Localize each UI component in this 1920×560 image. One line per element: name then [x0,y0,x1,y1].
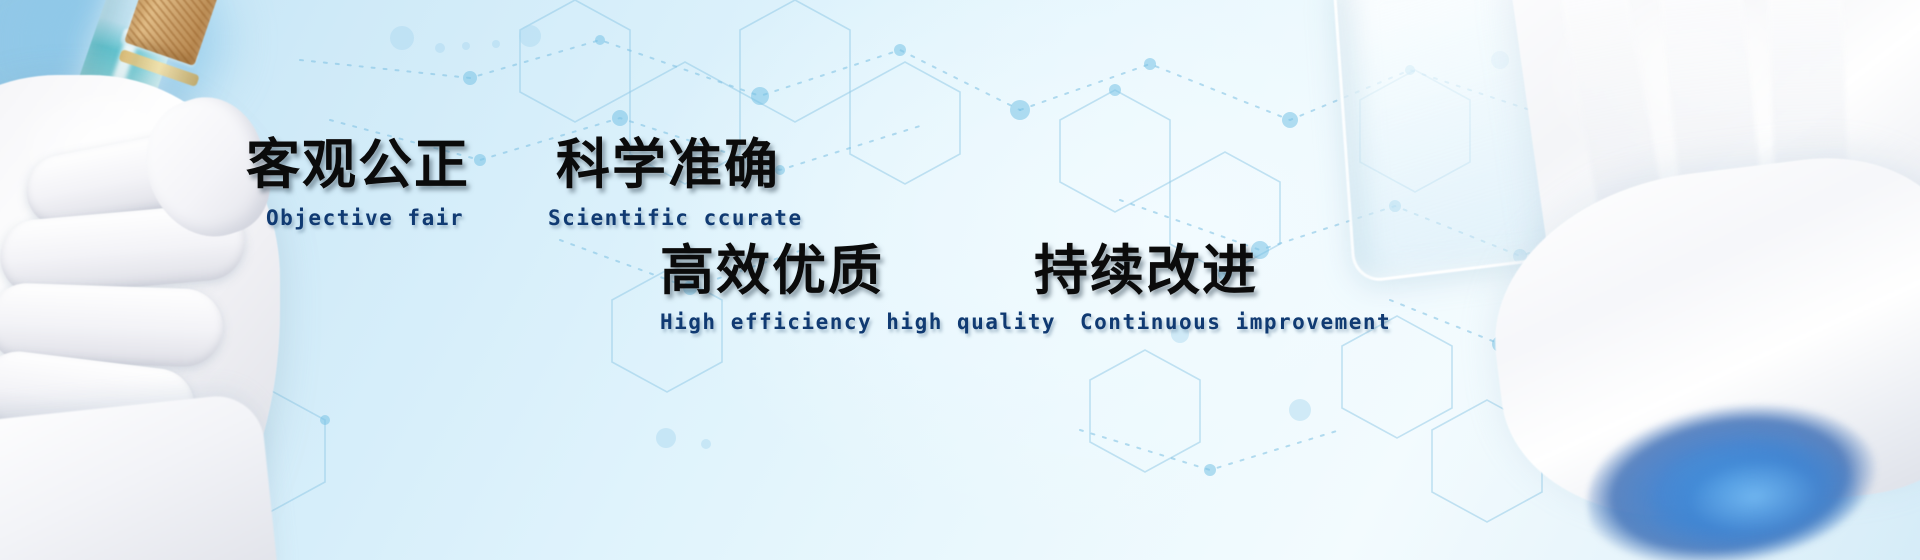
slogan-row-1-headings: 客观公正 科学准确 [246,138,803,192]
slogan-row-1: 客观公正 科学准确 Objective fair Scientific ccur… [246,138,803,229]
slogan-row-2-subtitles: High efficiency high quality Continuous … [660,312,1391,333]
slogan-banner: 客观公正 科学准确 Objective fair Scientific ccur… [0,0,1920,560]
slogan-subtitle-objective-fair: Objective fair [266,208,464,229]
slogan-subtitle-scientific-accurate: Scientific ccurate [548,208,803,229]
slogan-heading-objective-fair: 客观公正 [246,138,470,192]
slogan-heading-high-efficiency: 高效优质 [660,244,884,298]
slogan-row-2: 高效优质 持续改进 High efficiency high quality C… [660,244,1391,333]
slogan-row-2-headings: 高效优质 持续改进 [660,244,1391,298]
slogan-subtitle-high-efficiency: High efficiency high quality [660,312,1056,333]
slogan-row-1-subtitles: Objective fair Scientific ccurate [246,208,803,229]
slogan-heading-continuous-improvement: 持续改进 [1034,244,1258,298]
slogan-subtitle-continuous-improvement: Continuous improvement [1080,312,1391,333]
slogan-text-overlay: 客观公正 科学准确 Objective fair Scientific ccur… [0,0,1920,560]
slogan-heading-scientific-accurate: 科学准确 [556,138,780,192]
